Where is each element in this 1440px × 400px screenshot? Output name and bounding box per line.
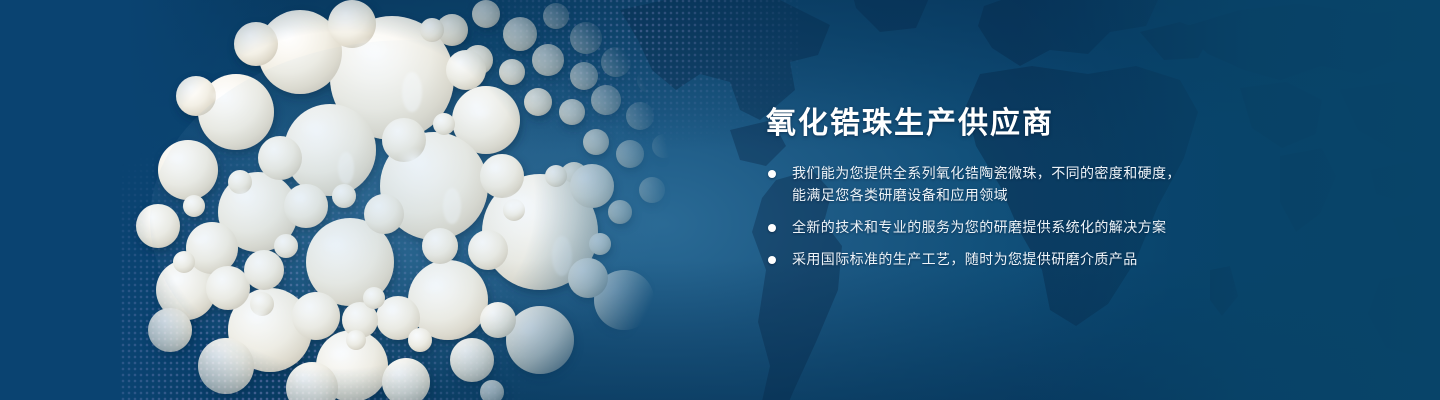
list-item-line: 全新的技术和专业的服务为您的研磨提供系统化的解决方案 [792, 216, 1364, 239]
bullet-dot-icon [768, 224, 776, 232]
list-item: 我们能为您提供全系列氧化锆陶瓷微珠，不同的密度和硬度， 能满足您各类研磨设备和应… [764, 162, 1364, 207]
list-item-line: 采用国际标准的生产工艺，随时为您提供研磨介质产品 [792, 248, 1364, 271]
feature-list: 我们能为您提供全系列氧化锆陶瓷微珠，不同的密度和硬度， 能满足您各类研磨设备和应… [764, 162, 1364, 271]
hero-banner: 氧化锆珠生产供应商 我们能为您提供全系列氧化锆陶瓷微珠，不同的密度和硬度， 能满… [0, 0, 1440, 400]
zirconia-beads-photo [0, 0, 780, 400]
bullet-dot-icon [768, 256, 776, 264]
bullet-dot-icon [768, 170, 776, 178]
list-item-line: 我们能为您提供全系列氧化锆陶瓷微珠，不同的密度和硬度， [792, 162, 1364, 185]
list-item: 采用国际标准的生产工艺，随时为您提供研磨介质产品 [764, 248, 1364, 271]
banner-copy: 氧化锆珠生产供应商 我们能为您提供全系列氧化锆陶瓷微珠，不同的密度和硬度， 能满… [764, 104, 1364, 271]
list-item-line: 能满足您各类研磨设备和应用领域 [792, 184, 1364, 207]
page-title: 氧化锆珠生产供应商 [766, 104, 1364, 144]
list-item: 全新的技术和专业的服务为您的研磨提供系统化的解决方案 [764, 216, 1364, 239]
